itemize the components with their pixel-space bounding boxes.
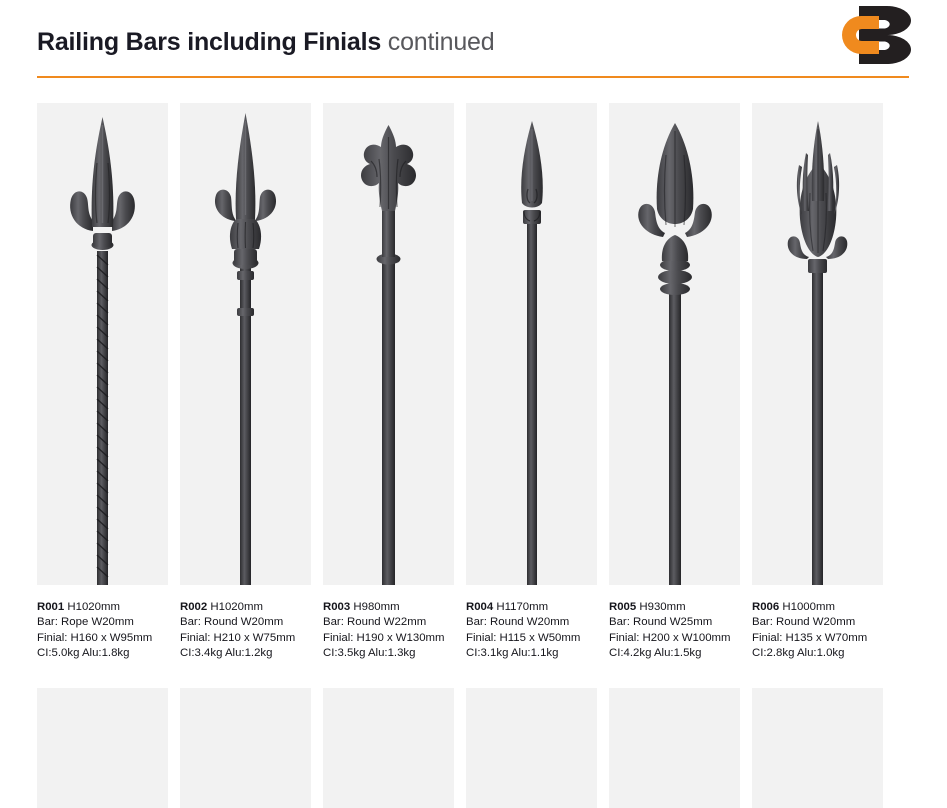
product-height: H1170mm [496, 601, 548, 613]
spec-code-line: R001 H1020mm [37, 600, 168, 615]
product-height: H1020mm [67, 601, 120, 613]
product-cell: R005 H930mm Bar: Round W25mm Finial: H20… [609, 103, 740, 662]
product-bar: Bar: Round W25mm [609, 615, 740, 630]
product-specs: R004 H1170mm Bar: Round W20mm Finial: H1… [466, 585, 597, 662]
product-weights: CI:3.5kg Alu:1.3kg [323, 646, 454, 661]
product-code: R004 [466, 601, 493, 613]
product-height: H930mm [639, 601, 685, 613]
product-photo-r002[interactable] [180, 103, 311, 585]
product-finial: Finial: H190 x W130mm [323, 631, 454, 646]
product-finial: Finial: H115 x W50mm [466, 631, 597, 646]
product-finial: Finial: H160 x W95mm [37, 631, 168, 646]
header-accent-rule [37, 76, 909, 78]
product-specs: R006 H1000mm Bar: Round W20mm Finial: H1… [752, 585, 883, 662]
product-photo-placeholder[interactable] [37, 688, 168, 808]
product-photo-r003[interactable] [323, 103, 454, 585]
product-photo-placeholder[interactable] [180, 688, 311, 808]
product-specs: R001 H1020mm Bar: Rope W20mm Finial: H16… [37, 585, 168, 662]
product-photo-r001[interactable] [37, 103, 168, 585]
product-code: R001 [37, 601, 64, 613]
product-bar: Bar: Round W20mm [180, 615, 311, 630]
spec-code-line: R003 H980mm [323, 600, 454, 615]
product-photo-placeholder[interactable] [752, 688, 883, 808]
product-cell: R001 H1020mm Bar: Rope W20mm Finial: H16… [37, 103, 168, 662]
product-cell: R004 H1170mm Bar: Round W20mm Finial: H1… [466, 103, 597, 662]
page-title: Railing Bars including Finials continued [37, 28, 494, 57]
product-cell: R003 H980mm Bar: Round W22mm Finial: H19… [323, 103, 454, 662]
product-height: H1000mm [782, 601, 835, 613]
page-header: Railing Bars including Finials continued [0, 0, 947, 90]
product-code: R003 [323, 601, 350, 613]
product-photo-placeholder[interactable] [466, 688, 597, 808]
product-weights: CI:5.0kg Alu:1.8kg [37, 646, 168, 661]
page-title-continued: continued [381, 28, 494, 56]
spec-code-line: R006 H1000mm [752, 600, 883, 615]
product-weights: CI:3.4kg Alu:1.2kg [180, 646, 311, 661]
product-photo-r004[interactable] [466, 103, 597, 585]
product-bar: Bar: Round W20mm [752, 615, 883, 630]
product-photo-placeholder[interactable] [609, 688, 740, 808]
spec-code-line: R004 H1170mm [466, 600, 597, 615]
product-bar: Bar: Round W20mm [466, 615, 597, 630]
product-finial: Finial: H135 x W70mm [752, 631, 883, 646]
product-photo-r005[interactable] [609, 103, 740, 585]
product-code: R005 [609, 601, 636, 613]
spec-code-line: R005 H930mm [609, 600, 740, 615]
cb-logo [839, 6, 911, 64]
spec-code-line: R002 H1020mm [180, 600, 311, 615]
product-photo-r006[interactable] [752, 103, 883, 585]
product-bar: Bar: Round W22mm [323, 615, 454, 630]
product-cell: R006 H1000mm Bar: Round W20mm Finial: H1… [752, 103, 883, 662]
page-title-main: Railing Bars including Finials [37, 28, 381, 56]
product-code: R002 [180, 601, 207, 613]
product-height: H1020mm [210, 601, 263, 613]
product-code: R006 [752, 601, 779, 613]
product-bar: Bar: Rope W20mm [37, 615, 168, 630]
product-grid: R001 H1020mm Bar: Rope W20mm Finial: H16… [37, 103, 910, 662]
product-specs: R005 H930mm Bar: Round W25mm Finial: H20… [609, 585, 740, 662]
product-weights: CI:3.1kg Alu:1.1kg [466, 646, 597, 661]
product-weights: CI:4.2kg Alu:1.5kg [609, 646, 740, 661]
product-weights: CI:2.8kg Alu:1.0kg [752, 646, 883, 661]
product-grid-next-row [37, 688, 910, 808]
product-height: H980mm [353, 601, 399, 613]
product-photo-placeholder[interactable] [323, 688, 454, 808]
product-finial: Finial: H210 x W75mm [180, 631, 311, 646]
product-finial: Finial: H200 x W100mm [609, 631, 740, 646]
product-cell: R002 H1020mm Bar: Round W20mm Finial: H2… [180, 103, 311, 662]
product-specs: R003 H980mm Bar: Round W22mm Finial: H19… [323, 585, 454, 662]
product-specs: R002 H1020mm Bar: Round W20mm Finial: H2… [180, 585, 311, 662]
